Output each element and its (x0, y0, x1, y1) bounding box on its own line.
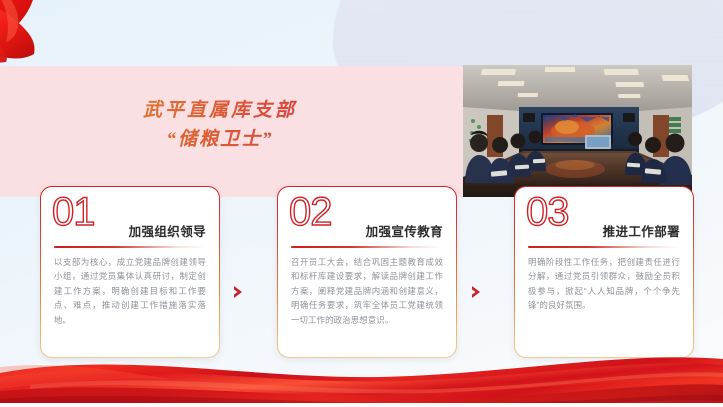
step-divider-02 (291, 246, 443, 248)
chevron-right-icon-2 (466, 281, 488, 303)
step-body-01: 以支部为核心，成立党建品牌创建领导小组，通过党员集体认真研讨，制定创建工作方案，… (54, 255, 206, 327)
meeting-room-photo (463, 65, 692, 197)
step-body-03: 明确阶段性工作任务，把创建责任进行分解，通过党员引领群众，鼓励全员积极参与，掀起… (528, 255, 680, 313)
step-divider-03 (528, 246, 680, 248)
chevron-right-icon-1 (228, 281, 250, 303)
red-ribbon-footer-decoration (0, 327, 723, 407)
bottom-white-edge (0, 403, 723, 407)
step-divider-01 (54, 246, 206, 248)
pink-header-band (0, 66, 463, 197)
slide-canvas: 武平直属库支部 “储粮卫士” (0, 0, 723, 407)
step-body-02: 召开员工大会，结合巩固主题教育成效和标杆库建设要求，解读品牌创建工作方案，阐释党… (291, 255, 443, 327)
